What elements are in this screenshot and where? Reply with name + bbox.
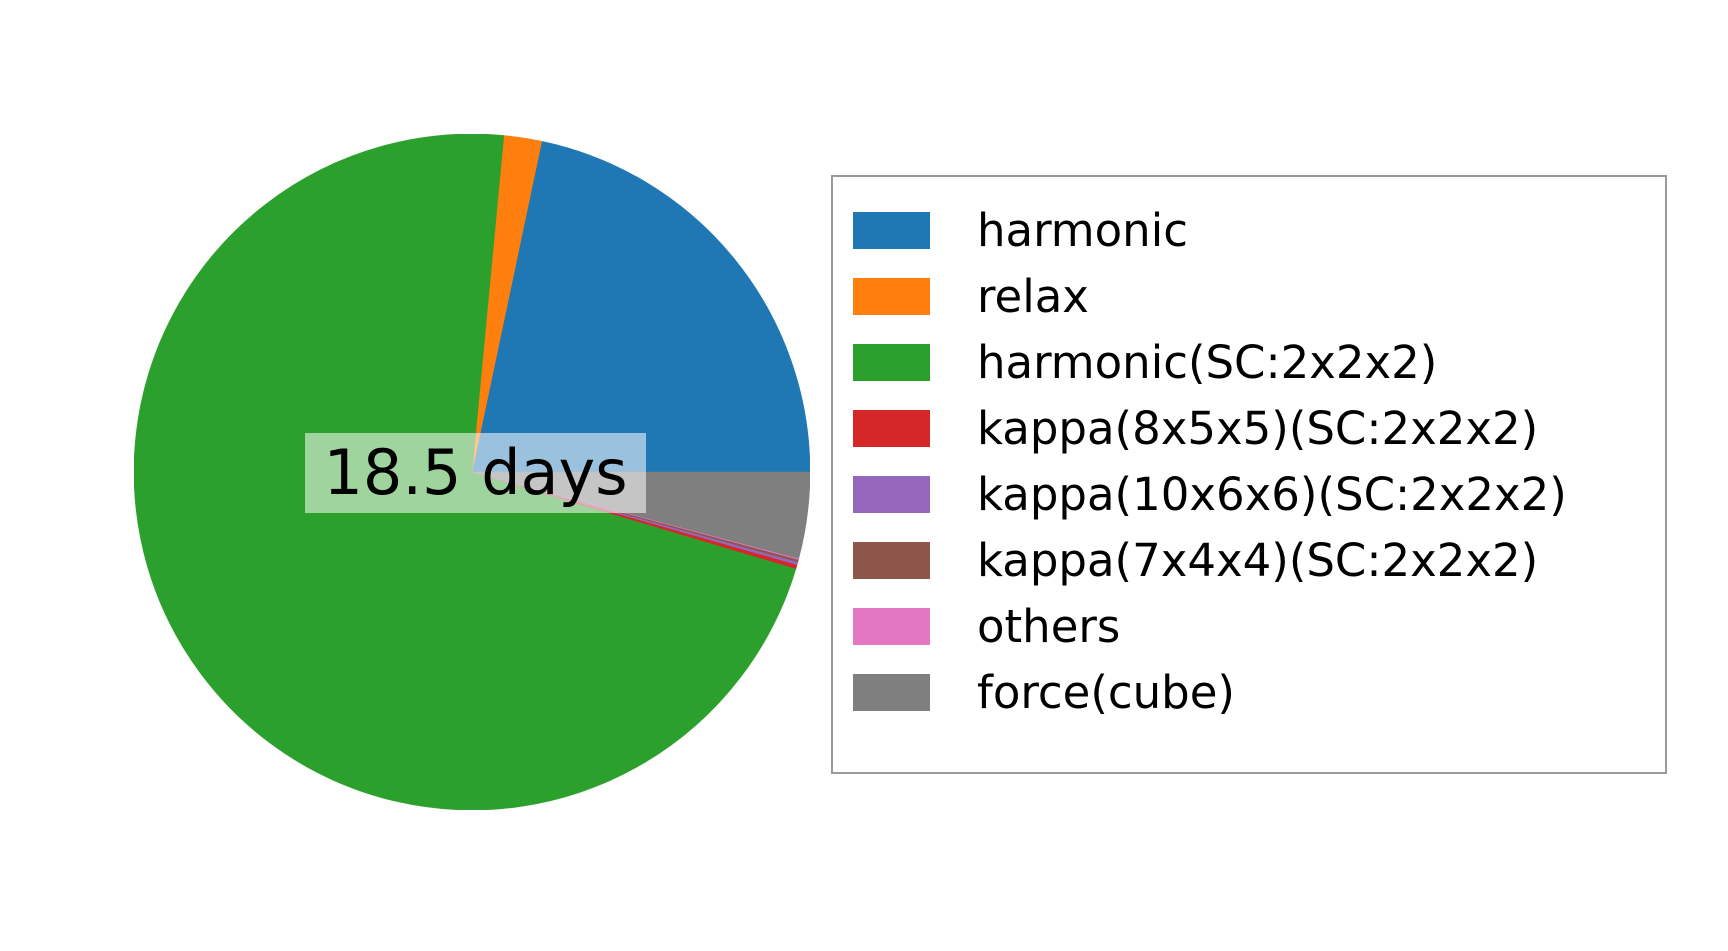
legend-color-swatch: [853, 278, 930, 315]
pie-chart-axes: [134, 134, 810, 810]
legend-color-swatch: [853, 476, 930, 513]
legend-color-swatch: [853, 212, 930, 249]
chart-legend: harmonicrelaxharmonic(SC:2x2x2)kappa(8x5…: [831, 175, 1667, 774]
legend-item-label: harmonic(SC:2x2x2): [977, 340, 1437, 385]
pie-chart-svg: [134, 134, 810, 810]
legend-color-swatch: [853, 542, 930, 579]
legend-item[interactable]: harmonic(SC:2x2x2): [833, 329, 1665, 395]
legend-item-label: kappa(8x5x5)(SC:2x2x2): [977, 406, 1538, 451]
legend-color-swatch: [853, 344, 930, 381]
legend-color-swatch: [853, 608, 930, 645]
legend-item-label: kappa(10x6x6)(SC:2x2x2): [977, 472, 1567, 517]
legend-item-label: harmonic: [977, 208, 1188, 253]
legend-color-swatch: [853, 674, 930, 711]
legend-item[interactable]: harmonic: [833, 197, 1665, 263]
legend-item-label: others: [977, 604, 1120, 649]
legend-color-swatch: [853, 410, 930, 447]
legend-item[interactable]: kappa(8x5x5)(SC:2x2x2): [833, 395, 1665, 461]
legend-item[interactable]: kappa(7x4x4)(SC:2x2x2): [833, 527, 1665, 593]
pie-slice-group: [134, 134, 810, 810]
legend-item-label: force(cube): [977, 670, 1235, 715]
legend-item[interactable]: force(cube): [833, 659, 1665, 725]
legend-item-list: harmonicrelaxharmonic(SC:2x2x2)kappa(8x5…: [833, 197, 1665, 725]
legend-item-label: relax: [977, 274, 1089, 319]
legend-item-label: kappa(7x4x4)(SC:2x2x2): [977, 538, 1538, 583]
legend-item[interactable]: others: [833, 593, 1665, 659]
figure-canvas: 18.5 days harmonicrelaxharmonic(SC:2x2x2…: [0, 0, 1728, 951]
legend-item[interactable]: kappa(10x6x6)(SC:2x2x2): [833, 461, 1665, 527]
legend-item[interactable]: relax: [833, 263, 1665, 329]
